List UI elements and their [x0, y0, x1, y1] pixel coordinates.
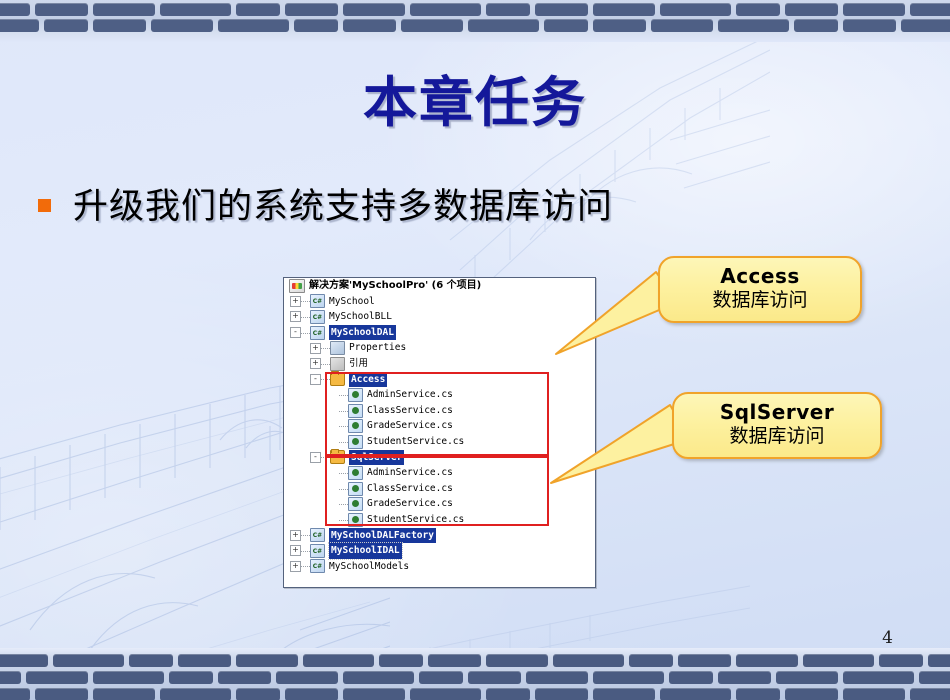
- tree-connector-line: [321, 364, 330, 365]
- tree-connector-line: [301, 301, 310, 302]
- csharp-project-icon: [310, 310, 325, 324]
- expand-toggle-icon[interactable]: +: [310, 358, 321, 369]
- sqlserver-highlight-box: [325, 456, 549, 526]
- collapse-toggle-icon[interactable]: -: [310, 374, 321, 385]
- tree-connector-line: [301, 566, 310, 567]
- csharp-project-icon: [310, 294, 325, 308]
- top-brick-border: [0, 0, 950, 42]
- expand-toggle-icon[interactable]: +: [290, 311, 301, 322]
- tree-connector-line: [301, 535, 310, 536]
- collapse-toggle-icon[interactable]: -: [290, 327, 301, 338]
- properties-icon: [330, 341, 345, 355]
- tree-node-label: 引用: [349, 356, 368, 372]
- callout-sqlserver: SqlServer 数据库访问: [548, 385, 948, 500]
- tree-node-label: MySchoolBLL: [329, 309, 392, 325]
- callout-access-subtitle: 数据库访问: [674, 289, 846, 313]
- tree-node-label: Properties: [349, 340, 406, 356]
- callout-access: Access 数据库访问: [548, 250, 948, 360]
- bullet-item-label: 升级我们的系统支持多数据库访问: [73, 178, 613, 229]
- tree-node-label: MySchool: [329, 294, 375, 310]
- callout-sqlserver-title: SqlServer: [688, 401, 866, 425]
- tree-connector-line: [321, 348, 330, 349]
- tree-node-label: MySchoolDAL: [329, 325, 396, 341]
- tree-node-label: MySchoolModels: [329, 559, 409, 575]
- tree-node[interactable]: +MySchoolDALFactory: [284, 528, 595, 544]
- slide-canvas: 本章任务 升级我们的系统支持多数据库访问 解决方案'MySchoolPro' (…: [0, 0, 950, 700]
- tree-node[interactable]: +MySchoolIDAL: [284, 543, 595, 559]
- tree-connector-line: [301, 551, 310, 552]
- references-icon: [330, 357, 345, 371]
- csharp-project-icon: [310, 559, 325, 573]
- page-title: 本章任务: [0, 58, 950, 137]
- tree-node-label: MySchoolDALFactory: [329, 528, 436, 544]
- tree-connector-line: [301, 333, 310, 334]
- expand-toggle-icon[interactable]: +: [290, 530, 301, 541]
- solution-root-label: 解决方案'MySchoolPro' (6 个项目): [309, 278, 481, 294]
- csharp-project-icon: [310, 528, 325, 542]
- callout-sqlserver-subtitle: 数据库访问: [688, 425, 866, 449]
- collapse-toggle-icon[interactable]: -: [310, 452, 321, 463]
- tree-node[interactable]: +MySchoolModels: [284, 559, 595, 575]
- callout-sqlserver-bubble: SqlServer 数据库访问: [672, 392, 882, 459]
- bottom-brick-border: [0, 648, 950, 700]
- page-number: 4: [882, 628, 893, 648]
- orange-square-bullet-icon: [38, 199, 51, 212]
- bullet-item: 升级我们的系统支持多数据库访问: [38, 178, 613, 229]
- csharp-project-icon: [310, 326, 325, 340]
- expand-toggle-icon[interactable]: +: [290, 296, 301, 307]
- callout-access-bubble: Access 数据库访问: [658, 256, 862, 323]
- solution-icon: [289, 279, 305, 293]
- access-highlight-box: [325, 372, 549, 456]
- expand-toggle-icon[interactable]: +: [310, 343, 321, 354]
- csharp-project-icon: [310, 544, 325, 558]
- tree-connector-line: [301, 317, 310, 318]
- tree-node-label: MySchoolIDAL: [329, 543, 402, 559]
- expand-toggle-icon[interactable]: +: [290, 545, 301, 556]
- expand-toggle-icon[interactable]: +: [290, 561, 301, 572]
- callout-access-title: Access: [674, 265, 846, 289]
